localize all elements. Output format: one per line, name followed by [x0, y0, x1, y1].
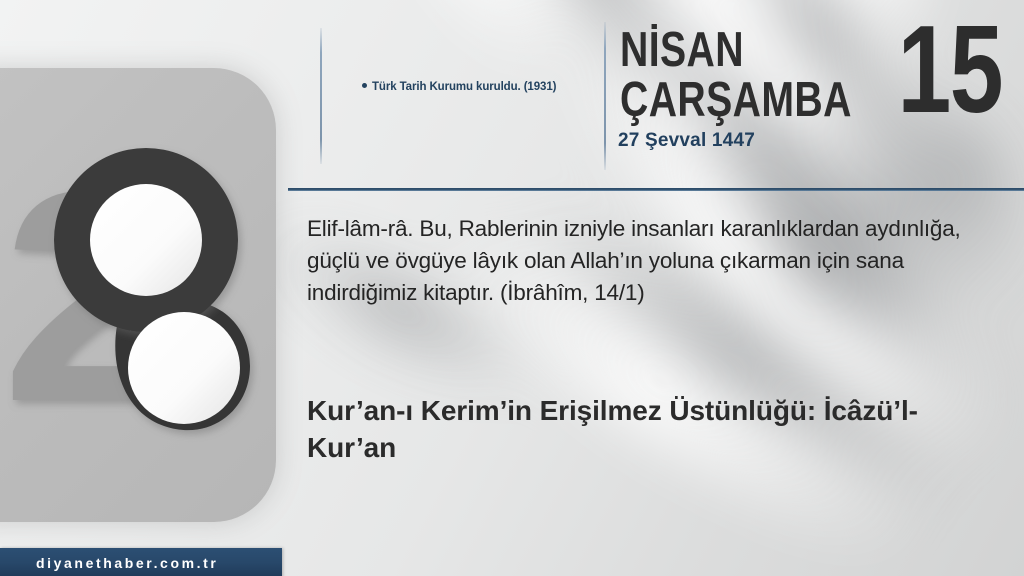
year-panel: 2	[0, 68, 276, 522]
weekday-name: ÇARŞAMBA	[620, 76, 852, 125]
footer-bar: diyanethaber.com.tr	[0, 548, 282, 576]
logo-lower-white-circle	[128, 312, 240, 424]
verse-text: Elif-lâm-râ. Bu, Rablerinin izniyle insa…	[307, 213, 967, 309]
website-url[interactable]: diyanethaber.com.tr	[36, 555, 218, 571]
calendar-page: 2 Türk Tarih Kurumu kuruldu. (1931) NİSA…	[0, 0, 1024, 576]
header-divider-left	[320, 28, 322, 164]
month-name: NİSAN	[620, 26, 744, 75]
header-divider-right	[604, 22, 606, 170]
header-horizontal-rule	[288, 188, 1024, 191]
event-of-the-day-text: Türk Tarih Kurumu kuruldu. (1931)	[372, 81, 556, 93]
logo-upper-white-circle	[90, 184, 202, 296]
bullet-dot-icon	[362, 83, 367, 88]
year-2026-logo: 2	[0, 110, 264, 500]
article-headline: Kur’an-ı Kerim’in Erişilmez Üstünlüğü: İ…	[307, 392, 957, 466]
event-of-the-day: Türk Tarih Kurumu kuruldu. (1931)	[362, 80, 592, 96]
hijri-date: 27 Şevval 1447	[618, 130, 755, 152]
day-number: 15	[898, 8, 1002, 132]
